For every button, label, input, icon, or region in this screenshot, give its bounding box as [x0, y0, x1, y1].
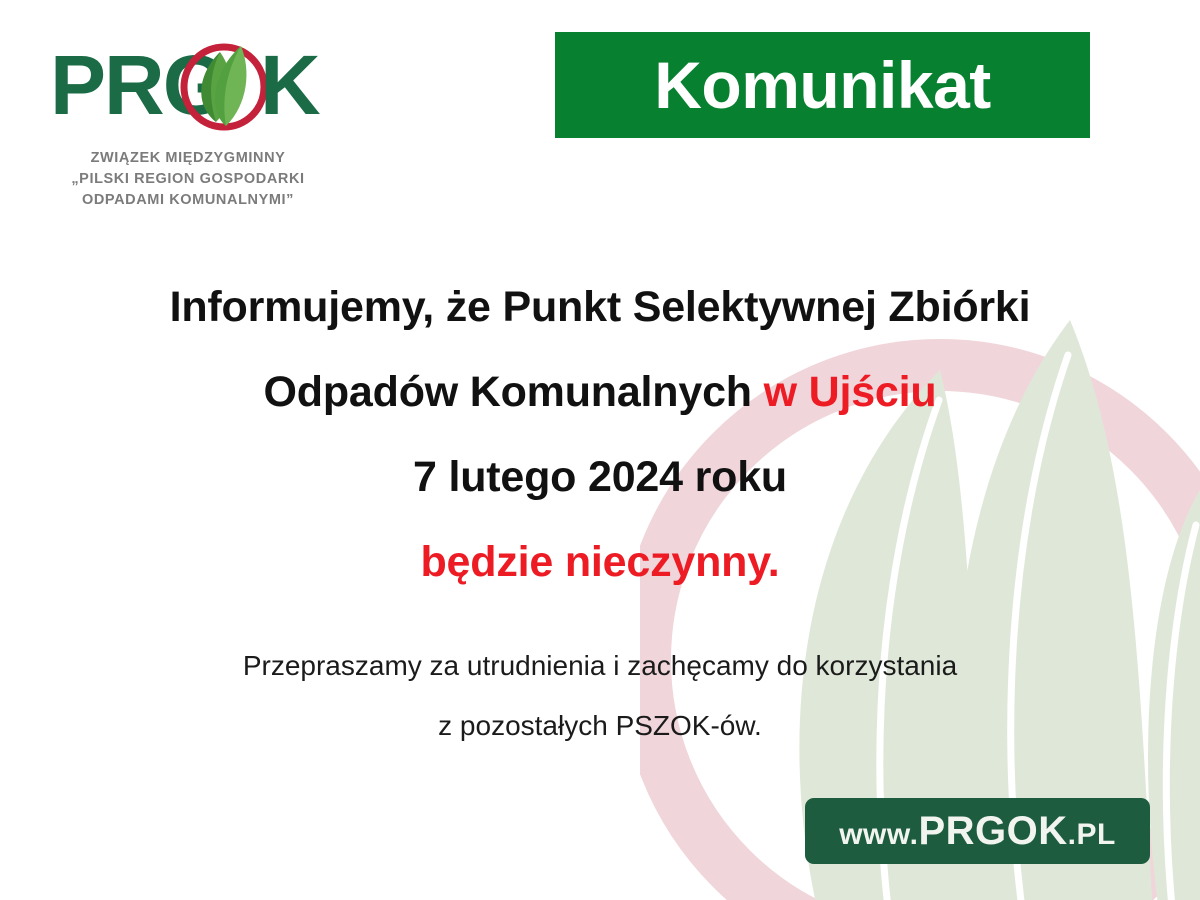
prgok-wordmark-icon: PRG K [48, 30, 328, 142]
banner-title: Komunikat [654, 52, 991, 118]
logo-subtitle-line-1: ZWIĄZEK MIĘDZYGMINNY [48, 148, 328, 169]
website-suffix: .PL [1068, 820, 1116, 850]
website-prefix: www. [839, 820, 918, 850]
logo-subtitle-line-2: „PILSKI REGION GOSPODARKI [48, 169, 328, 190]
message-line-1: Informujemy, że Punkt Selektywnej Zbiórk… [0, 286, 1200, 329]
message-segment: Informujemy, że Punkt Selektywnej Zbiórk… [170, 283, 1031, 331]
message-line-2: Odpadów Komunalnych w Ujściu [0, 371, 1200, 414]
message-line-4-status: będzie nieczynny. [0, 541, 1200, 584]
logo-subtitle-line-3: ODPADAMI KOMUNALNYMI” [48, 190, 328, 211]
announcement-message: Informujemy, że Punkt Selektywnej Zbiórk… [0, 286, 1200, 584]
message-line-3-date: 7 lutego 2024 roku [0, 456, 1200, 499]
komunikat-banner: Komunikat [555, 32, 1090, 138]
message-segment: 7 lutego 2024 roku [413, 453, 787, 501]
note-line-2: z pozostałych PSZOK-ów. [0, 712, 1200, 740]
announcement-poster: PRG K ZWIĄZEK MIĘDZYGMINNY „PILSKI REGIO… [0, 0, 1200, 900]
note-line-1: Przepraszamy za utrudnienia i zachęcamy … [0, 652, 1200, 680]
message-segment-highlight: będzie nieczynny. [420, 538, 779, 586]
svg-text:K: K [260, 38, 321, 132]
website-badge[interactable]: www.PRGOK.PL [805, 798, 1150, 864]
website-badge-text: www.PRGOK.PL [839, 811, 1116, 851]
prgok-logo: PRG K ZWIĄZEK MIĘDZYGMINNY „PILSKI REGIO… [48, 30, 348, 211]
message-segment-highlight: w Ujściu [764, 368, 937, 416]
website-main: PRGOK [918, 811, 1067, 851]
message-segment: Odpadów Komunalnych [264, 368, 764, 416]
logo-subtitle: ZWIĄZEK MIĘDZYGMINNY „PILSKI REGION GOSP… [48, 148, 328, 211]
apology-note: Przepraszamy za utrudnienia i zachęcamy … [0, 652, 1200, 740]
